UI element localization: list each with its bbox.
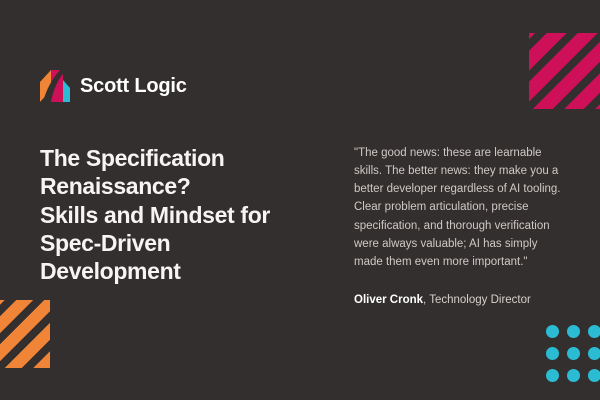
brand-logo: Scott Logic bbox=[40, 70, 187, 102]
grid-dot bbox=[588, 369, 600, 382]
quote-author-role: , Technology Director bbox=[423, 294, 531, 306]
grid-dot bbox=[588, 347, 600, 360]
grid-dot bbox=[546, 347, 559, 360]
grid-dot bbox=[588, 325, 600, 338]
grid-dot bbox=[546, 325, 559, 338]
quote-attribution: Oliver Cronk, Technology Director bbox=[354, 294, 566, 306]
grid-dot bbox=[567, 325, 580, 338]
scott-logic-mark-icon bbox=[40, 70, 70, 102]
pull-quote-block: "The good news: these are learnable skil… bbox=[354, 144, 566, 306]
dot-grid-teal-decoration bbox=[546, 320, 600, 388]
grid-dot bbox=[567, 347, 580, 360]
pull-quote-text: "The good news: these are learnable skil… bbox=[354, 144, 566, 271]
diagonal-stripe-square-orange-decoration bbox=[0, 300, 50, 368]
quote-author-name: Oliver Cronk bbox=[354, 294, 423, 306]
grid-dot bbox=[546, 369, 559, 382]
grid-dot bbox=[567, 369, 580, 382]
diagonal-stripe-square-magenta-decoration bbox=[529, 33, 600, 109]
brand-wordmark: Scott Logic bbox=[80, 75, 187, 98]
slide-headline: The Specification Renaissance? Skills an… bbox=[40, 144, 330, 285]
